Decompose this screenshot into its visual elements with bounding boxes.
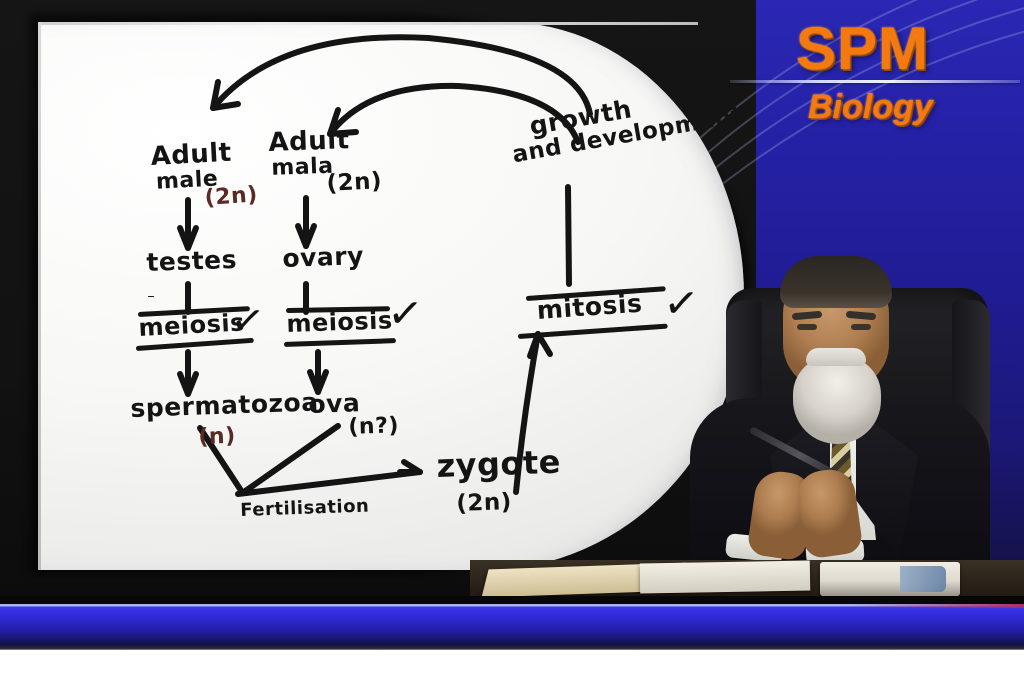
whiteboard-left-edge — [38, 22, 41, 570]
logo-subtitle: Biology — [808, 88, 933, 127]
lower-bar-accent — [850, 604, 1024, 608]
logo-title: SPM — [796, 14, 929, 83]
desk-paper-2 — [640, 561, 810, 594]
presenter-mustache — [806, 348, 866, 366]
whiteboard — [38, 22, 744, 570]
lower-blue-bar — [0, 604, 1024, 650]
presenter-hair — [780, 256, 892, 308]
eye-right — [851, 324, 871, 330]
presenter-beard — [793, 356, 881, 444]
desk-book-edge — [900, 566, 946, 592]
bottom-white-strip — [0, 650, 1024, 683]
whiteboard-top-edge — [38, 22, 698, 25]
channel-logo: SPM Biology — [772, 14, 1008, 134]
eye-left — [797, 324, 817, 330]
video-frame: Adult male (2n) Adult mala (2n) testes o… — [0, 0, 1024, 683]
